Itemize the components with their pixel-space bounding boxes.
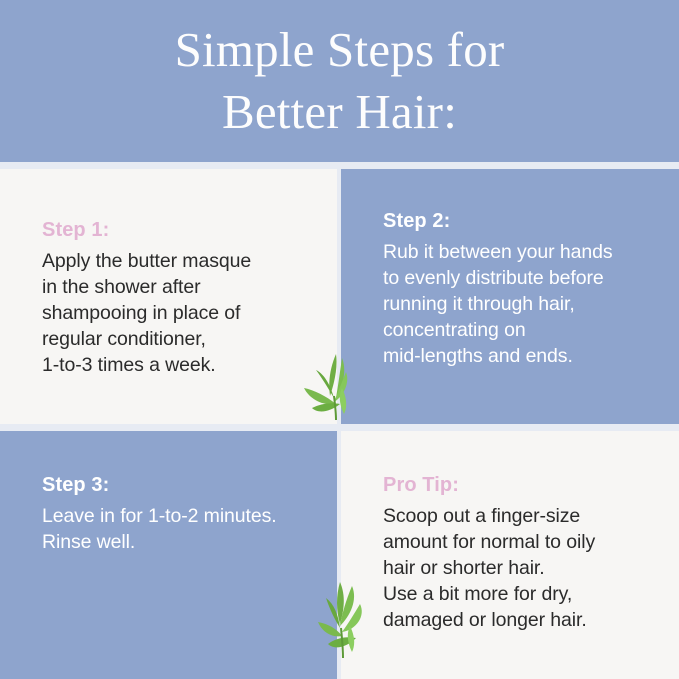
infographic-root: Simple Steps for Better Hair: Step 1: Ap… (0, 0, 679, 679)
card-step-3: Step 3: Leave in for 1-to-2 minutes. Rin… (0, 431, 337, 679)
step-1-heading: Step 1: (42, 218, 322, 242)
card-step-3-body: Step 3: Leave in for 1-to-2 minutes. Rin… (42, 473, 332, 555)
card-step-1-body: Step 1: Apply the butter masque in the s… (42, 218, 322, 378)
divider-vertical (337, 162, 341, 679)
card-pro-tip: Pro Tip: Scoop out a finger-size amount … (341, 431, 679, 679)
pro-tip-heading: Pro Tip: (383, 473, 673, 497)
step-2-heading: Step 2: (383, 209, 673, 233)
card-step-1: Step 1: Apply the butter masque in the s… (0, 169, 337, 424)
card-pro-tip-body: Pro Tip: Scoop out a finger-size amount … (383, 473, 673, 633)
page-title: Simple Steps for Better Hair: (155, 19, 525, 142)
step-3-text: Leave in for 1-to-2 minutes. Rinse well. (42, 503, 332, 555)
pro-tip-text: Scoop out a finger-size amount for norma… (383, 503, 673, 633)
card-step-2-body: Step 2: Rub it between your hands to eve… (383, 209, 673, 369)
step-2-text: Rub it between your hands to evenly dist… (383, 239, 673, 369)
card-step-2: Step 2: Rub it between your hands to eve… (341, 169, 679, 424)
step-3-heading: Step 3: (42, 473, 332, 497)
header-banner: Simple Steps for Better Hair: (0, 0, 679, 162)
step-1-text: Apply the butter masque in the shower af… (42, 248, 322, 378)
